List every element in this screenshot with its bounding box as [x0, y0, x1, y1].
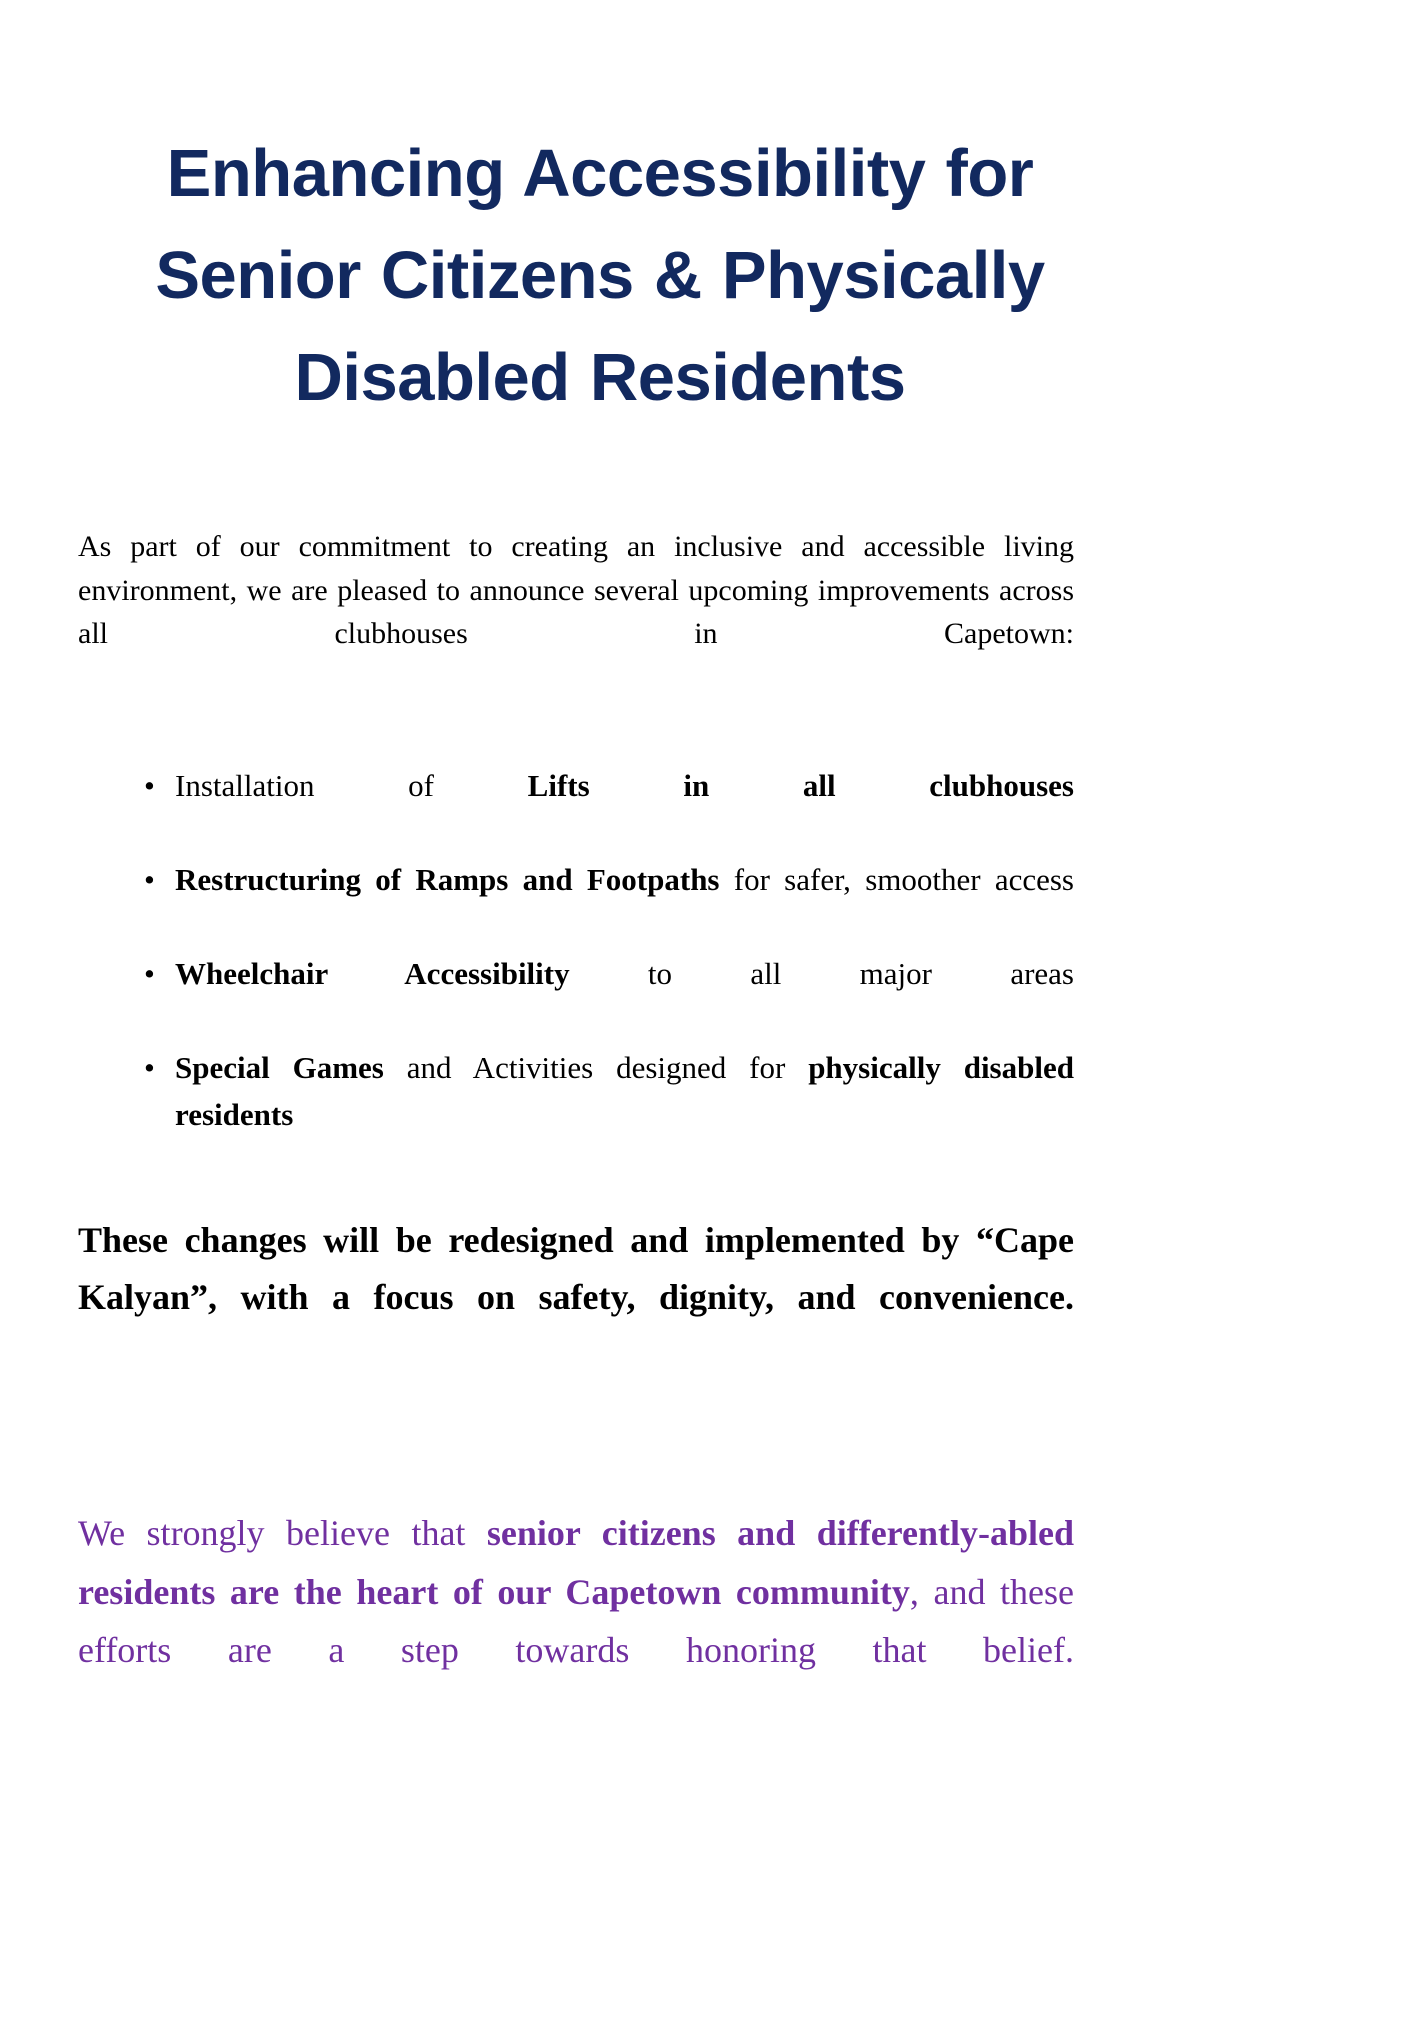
list-item-text: Wheelchair Accessibility to all major ar…: [175, 950, 1074, 1044]
page-title-line-3: Disabled Residents: [100, 327, 1100, 429]
improvements-bullet-list: • Installation of Lifts in all clubhouse…: [78, 762, 1074, 1186]
list-item: • Installation of Lifts in all clubhouse…: [78, 762, 1074, 856]
list-item-segment: for safer, smoother access: [720, 862, 1075, 897]
statement-paragraph: These changes will be redesigned and imp…: [78, 1212, 1074, 1385]
list-item-text: Restructuring of Ramps and Footpaths for…: [175, 856, 1074, 950]
page-title-line-1: Enhancing Accessibility for: [100, 123, 1100, 225]
bullet-point-icon: •: [144, 1044, 155, 1091]
page-title: Enhancing Accessibility for Senior Citiz…: [100, 123, 1100, 428]
list-item-segment-bold: Wheelchair Accessibility: [175, 956, 570, 991]
list-item: • Wheelchair Accessibility to all major …: [78, 950, 1074, 1044]
bullet-point-icon: •: [144, 762, 155, 809]
page-title-line-2: Senior Citizens & Physically: [100, 225, 1100, 327]
document-body: As part of our commitment to creating an…: [78, 525, 1074, 1738]
document-page: Enhancing Accessibility for Senior Citiz…: [0, 0, 1428, 2028]
list-item-text: Installation of Lifts in all clubhouses: [175, 762, 1074, 856]
intro-paragraph: As part of our commitment to creating an…: [78, 525, 1074, 700]
list-item-segment: to all major areas: [570, 956, 1074, 991]
list-item-segment-bold: Restructuring of Ramps and Footpaths: [175, 862, 720, 897]
paragraph-spacer: [78, 1384, 1074, 1504]
bullet-point-icon: •: [144, 856, 155, 903]
closing-segment: We strongly believe that: [78, 1513, 487, 1553]
closing-paragraph: We strongly believe that senior citizens…: [78, 1504, 1074, 1737]
list-item-segment-bold: Lifts in all clubhouses: [528, 768, 1074, 803]
list-item-segment: and Activities designed for: [384, 1050, 808, 1085]
list-item: • Restructuring of Ramps and Footpaths f…: [78, 856, 1074, 950]
list-item-segment-bold: Special Games: [175, 1050, 384, 1085]
bullet-point-icon: •: [144, 950, 155, 997]
list-item: • Special Games and Activities designed …: [78, 1044, 1074, 1185]
list-item-text: Special Games and Activities designed fo…: [175, 1044, 1074, 1185]
list-item-segment: Installation of: [175, 768, 528, 803]
